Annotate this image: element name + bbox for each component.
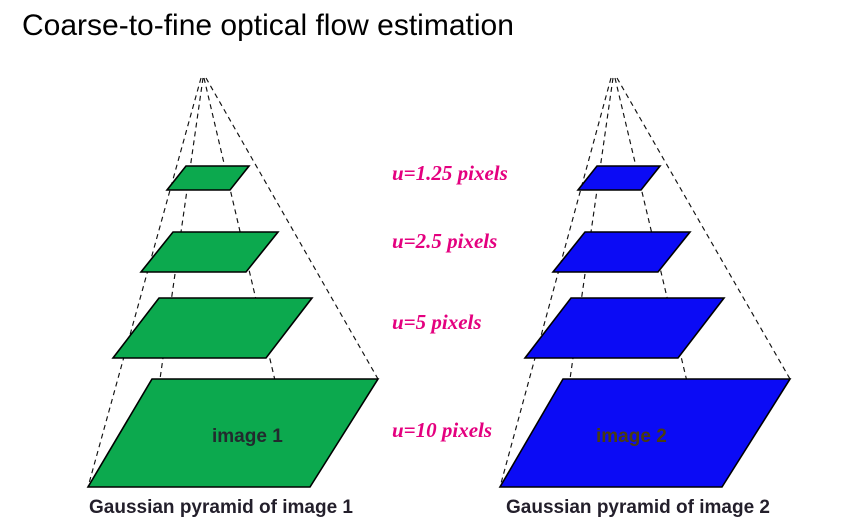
pyramid-right-level-0	[578, 166, 660, 190]
pyramid-left-level-2	[113, 298, 312, 358]
flow-label-group: u=1.25 pixels u=2.5 pixels u=5 pixels u=…	[392, 161, 508, 442]
pyramid-left-level-0	[167, 166, 249, 190]
slide-canvas: Coarse-to-fine optical flow estimation i…	[0, 0, 855, 532]
pyramid-right: image 2 Gaussian pyramid of image 2	[500, 78, 790, 518]
pyramid-right-caption: Gaussian pyramid of image 2	[506, 497, 770, 518]
flow-label-level-0: u=1.25 pixels	[392, 161, 508, 185]
flow-label-level-1: u=2.5 pixels	[392, 229, 497, 253]
flow-label-level-3: u=10 pixels	[392, 418, 492, 442]
pyramid-right-level-2	[525, 298, 724, 358]
pyramid-left-level-3-label: image 1	[212, 426, 283, 447]
pyramid-left: image 1 Gaussian pyramid of image 1	[88, 78, 378, 518]
pyramid-diagram: image 1 Gaussian pyramid of image 1 imag…	[0, 0, 855, 532]
pyramid-left-caption: Gaussian pyramid of image 1	[89, 497, 353, 518]
pyramid-right-level-1	[553, 232, 690, 272]
flow-label-level-2: u=5 pixels	[392, 310, 482, 334]
pyramid-right-level-3-label: image 2	[596, 426, 667, 447]
pyramid-left-level-1	[141, 232, 278, 272]
